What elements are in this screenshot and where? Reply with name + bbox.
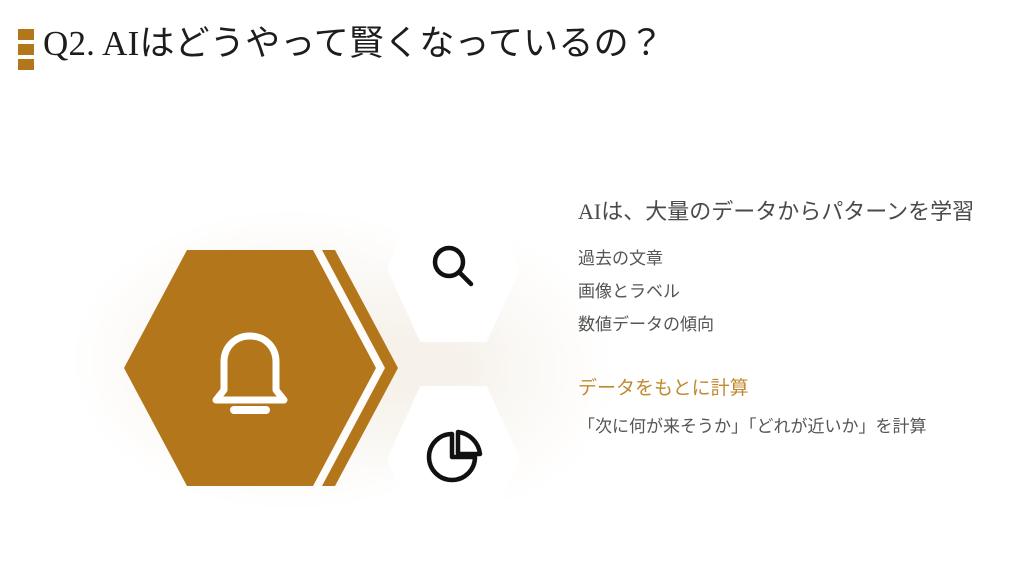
section-one-list: 過去の文章 画像とラベル 数値データの傾向 (578, 242, 998, 341)
list-item: 画像とラベル (578, 275, 998, 308)
list-item: 過去の文章 (578, 242, 998, 275)
section-two-body: 「次に何が来そうか」「どれが近いか」を計算 (578, 413, 998, 441)
content-column: AIは、大量のデータからパターンを学習 過去の文章 画像とラベル 数値データの傾… (578, 196, 998, 441)
list-item: 数値データの傾向 (578, 308, 998, 341)
hexagon-cluster (0, 0, 560, 548)
section-one-heading: AIは、大量のデータからパターンを学習 (578, 196, 998, 228)
section-two-heading: データをもとに計算 (578, 375, 998, 403)
hexagon-card-pie-chart[interactable] (387, 386, 520, 532)
search-icon (427, 240, 481, 299)
hexagon-card-search[interactable] (387, 196, 520, 342)
pie-chart-icon (425, 428, 483, 491)
